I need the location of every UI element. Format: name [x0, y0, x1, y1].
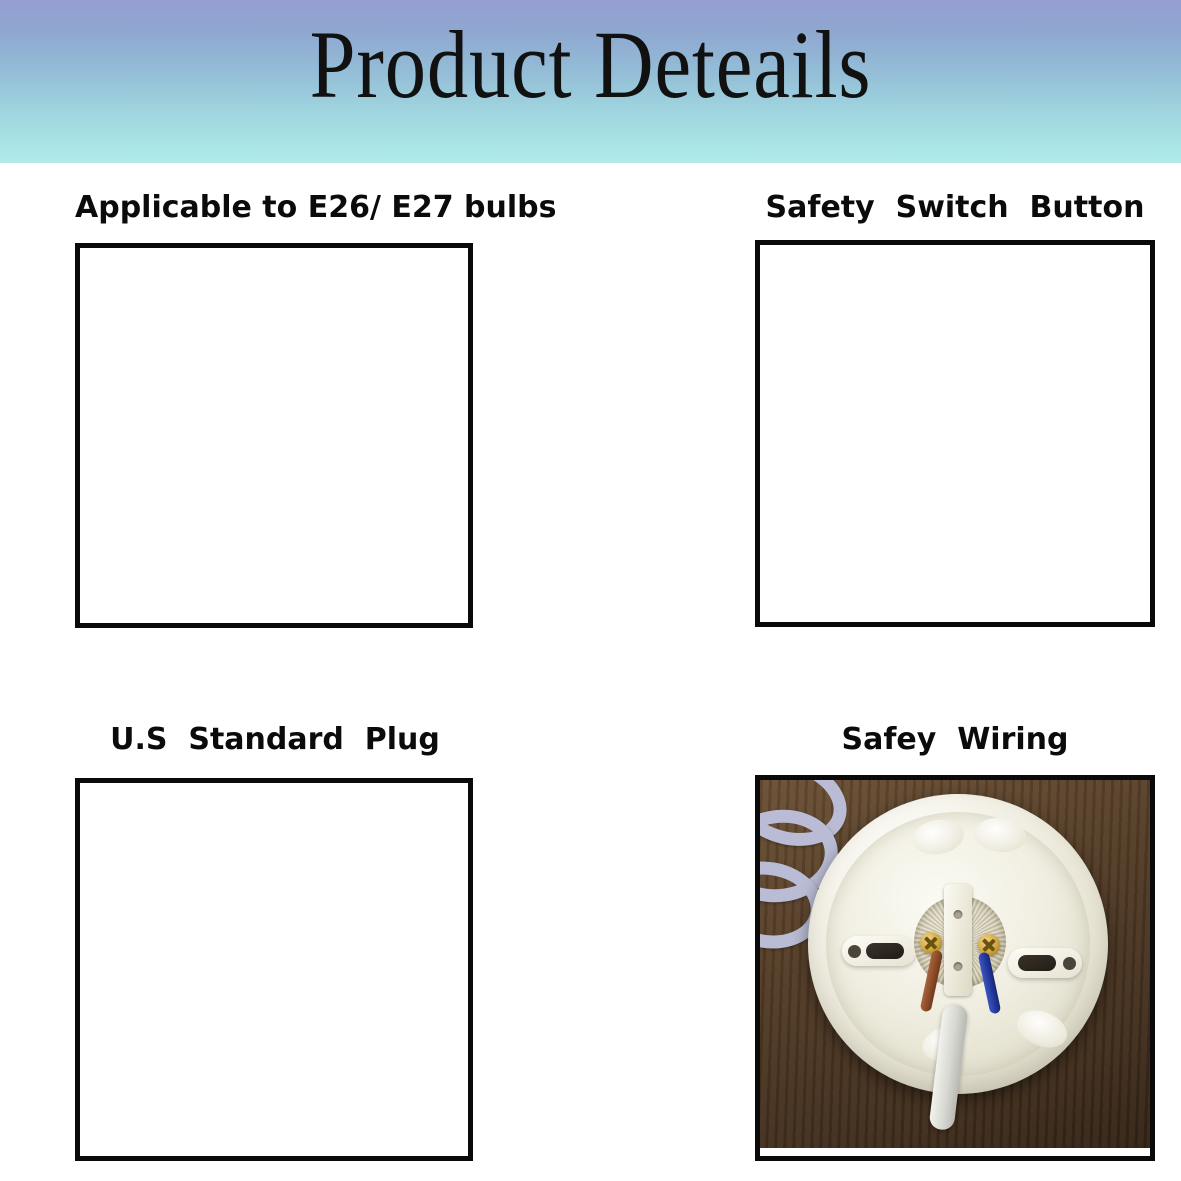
- lamp-base-body: [808, 794, 1108, 1094]
- photo-wiring: [760, 780, 1150, 1148]
- photo-frame-wiring: [755, 775, 1155, 1161]
- base-moulding-bump: [909, 816, 966, 859]
- page-title: Product Deteails: [83, 13, 1099, 117]
- lamp-base-interior: [826, 812, 1090, 1076]
- wiring-photo-scene: [760, 780, 1150, 1148]
- panel-plug: U.S Standard Plug: [75, 722, 475, 1162]
- base-moulding-bump: [972, 815, 1027, 854]
- panel-label-wiring: Safey Wiring: [755, 722, 1155, 758]
- base-moulding-bump: [1012, 1003, 1073, 1054]
- mount-slot-right: [1008, 948, 1082, 978]
- photo-frame-switch: [755, 240, 1155, 627]
- panel-label-switch: Safety Switch Button: [755, 190, 1155, 226]
- panel-wiring: Safey Wiring: [755, 722, 1155, 1162]
- header-banner: Product Deteails: [0, 0, 1181, 163]
- mount-slot-left: [842, 936, 916, 966]
- panel-label-socket: Applicable to E26/ E27 bulbs: [75, 190, 556, 226]
- photo-frame-socket: [75, 243, 473, 628]
- outgoing-cable: [928, 1003, 968, 1131]
- panel-socket: Applicable to E26/ E27 bulbs: [75, 190, 475, 630]
- photo-frame-plug: [75, 778, 473, 1161]
- terminal-cover-bar: [944, 884, 972, 996]
- panel-switch: Safety Switch Button: [755, 190, 1155, 630]
- product-details-infographic: Product Deteails Applicable to E26/ E27 …: [0, 0, 1181, 1181]
- panel-label-plug: U.S Standard Plug: [75, 722, 475, 758]
